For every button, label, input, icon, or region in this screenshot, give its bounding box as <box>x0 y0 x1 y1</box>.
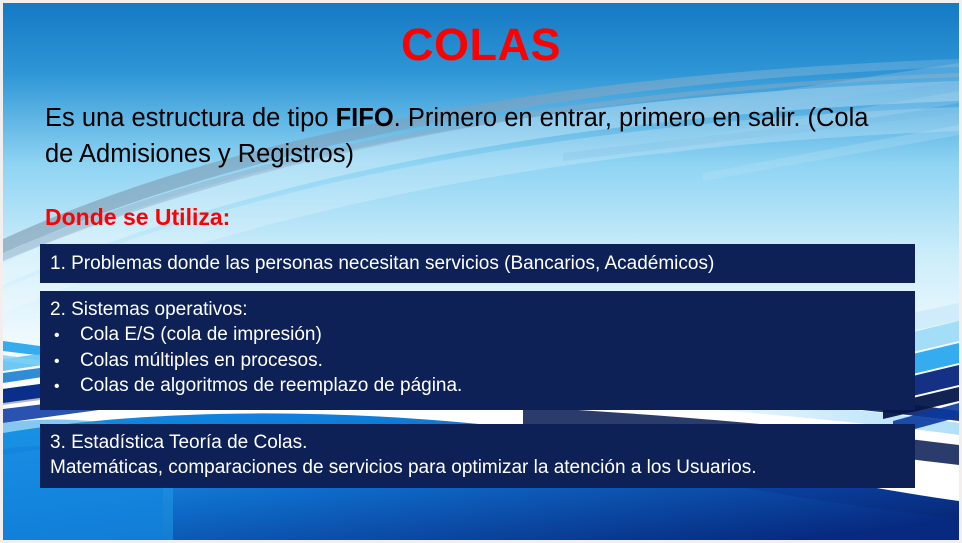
content-panel-2: 2. Sistemas operativos: • Cola E/S (cola… <box>40 291 915 410</box>
presentation-slide: COLAS Es una estructura de tipo FIFO. Pr… <box>0 0 962 543</box>
panel-2-bullet-2: Colas múltiples en procesos. <box>80 348 323 373</box>
intro-text-part1: Es una estructura de tipo <box>45 104 336 132</box>
panel-2-bullet-1: Cola E/S (cola de impresión) <box>80 322 322 347</box>
panel-2-bullet-3: Colas de algoritmos de reemplazo de pági… <box>80 373 462 398</box>
bullet-dot-icon: • <box>50 376 80 397</box>
slide-content: COLAS Es una estructura de tipo FIFO. Pr… <box>0 0 962 543</box>
panel-3-line-1: 3. Estadística Teoría de Colas. <box>50 430 915 455</box>
content-panel-3: 3. Estadística Teoría de Colas. Matemáti… <box>40 424 915 488</box>
intro-paragraph: Es una estructura de tipo FIFO. Primero … <box>45 100 875 172</box>
panel-2-heading: 2. Sistemas operativos: <box>50 297 915 322</box>
list-item: • Colas de algoritmos de reemplazo de pá… <box>50 373 915 398</box>
page-title: COLAS <box>0 22 962 67</box>
list-item: • Colas múltiples en procesos. <box>50 348 915 373</box>
bullet-dot-icon: • <box>50 351 80 372</box>
panel-3-line-2: Matemáticas, comparaciones de servicios … <box>50 455 915 480</box>
list-item: • Cola E/S (cola de impresión) <box>50 322 915 347</box>
bullet-dot-icon: • <box>50 325 80 346</box>
panel-1-line-1: 1. Problemas donde las personas necesita… <box>50 251 915 276</box>
section-subheading: Donde se Utiliza: <box>45 205 230 230</box>
content-panel-1: 1. Problemas donde las personas necesita… <box>40 244 915 283</box>
intro-fifo-emphasis: FIFO <box>336 104 394 132</box>
